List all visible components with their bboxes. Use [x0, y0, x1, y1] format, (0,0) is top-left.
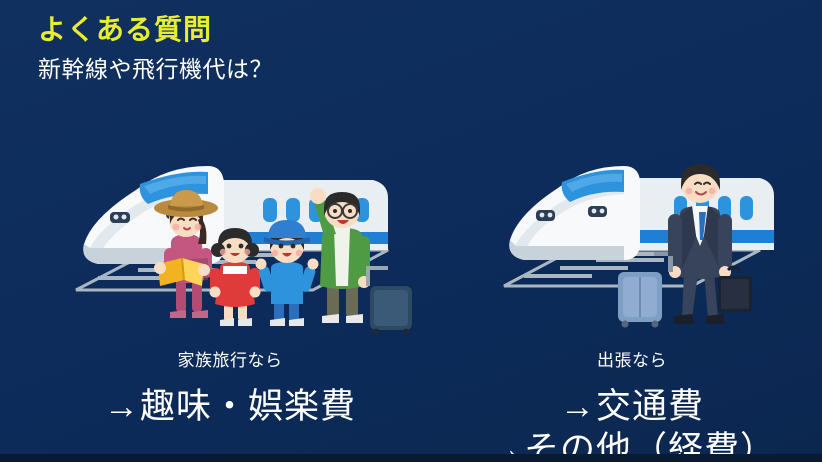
right-caption-label: 出張なら — [452, 350, 812, 372]
page-title: よくある質問 — [38, 14, 273, 46]
right-answer-column: 出張なら →交通費 →その他（経費） — [452, 350, 812, 462]
left-answer-text: →趣味・娯楽費 — [20, 386, 440, 427]
left-answer-column: 家族旅行なら →趣味・娯楽費 — [20, 350, 440, 427]
page-subtitle: 新幹線や飛行機代は？ — [38, 56, 273, 84]
shinkansen-with-businessman-illustration — [492, 140, 792, 340]
shinkansen-with-family-illustration — [58, 140, 428, 340]
slide-canvas: よくある質問 新幹線や飛行機代は？ — [0, 0, 822, 462]
shinkansen-train-icon — [509, 166, 774, 260]
header-block: よくある質問 新幹線や飛行機代は？ — [38, 14, 273, 84]
bottom-letterbox-bar — [0, 454, 822, 462]
right-answer-primary-text: →交通費 — [452, 386, 812, 427]
left-caption-label: 家族旅行なら — [20, 350, 440, 372]
